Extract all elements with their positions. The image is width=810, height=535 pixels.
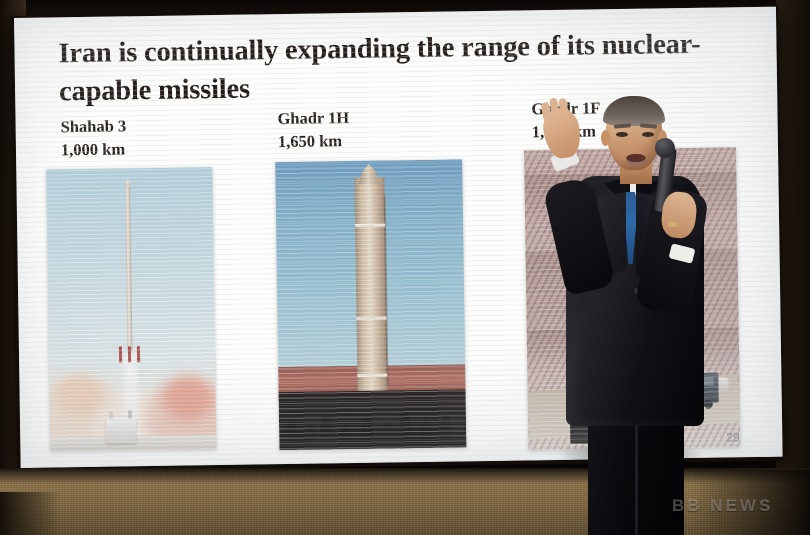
missile-band (357, 374, 387, 377)
slide-number: 29 (726, 430, 740, 444)
leg-seam (635, 426, 638, 535)
news-watermark: BB NEWS (672, 496, 773, 516)
missile-photo-shahab-3 (46, 167, 216, 451)
missile-label-ghadr-1h: Ghadr 1H 1,650 km (277, 107, 349, 154)
launch-vehicle (106, 417, 136, 443)
missile-photo-ghadr-1h (275, 159, 466, 450)
missile-band (356, 316, 386, 319)
eye-right (642, 132, 654, 137)
missile-band (355, 224, 385, 227)
smoke-cloud (162, 376, 212, 422)
ear-left (601, 130, 610, 146)
speaker-hair (603, 96, 665, 126)
missile-body (354, 178, 387, 392)
eye-left (616, 132, 628, 137)
ground (279, 390, 467, 450)
missile-fins (119, 346, 141, 362)
floor-shadow-left (0, 492, 60, 535)
screenshot-root: Iran is continually expanding the range … (0, 0, 810, 535)
missile-label-shahab-3: Shahab 3 1,000 km (60, 115, 126, 161)
speaker (548, 96, 714, 535)
mouth (626, 154, 646, 165)
wristwatch (668, 222, 677, 227)
